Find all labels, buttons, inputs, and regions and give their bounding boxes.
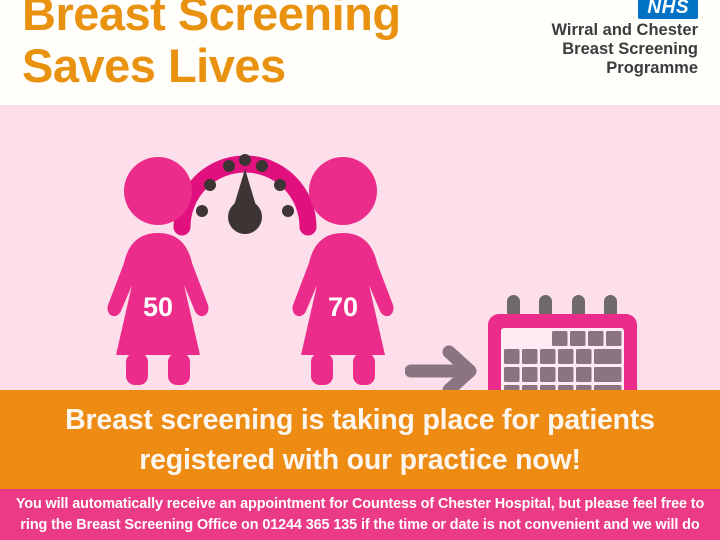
person-figure-right: 70 xyxy=(283,155,403,385)
pink-banner-text: You will automatically receive an appoin… xyxy=(13,494,707,536)
pink-info-banner: You will automatically receive an appoin… xyxy=(0,489,720,540)
person-left-age-label: 50 xyxy=(98,294,218,321)
poster-header: Breast Screening Saves Lives NHS Wirral … xyxy=(0,0,720,105)
nhs-branding: NHS Wirral and Chester Breast Screening … xyxy=(478,0,698,78)
person-right-age-label: 70 xyxy=(283,294,403,321)
orange-announcement-banner: Breast screening is taking place for pat… xyxy=(0,390,720,489)
nhs-programme-name: Wirral and Chester Breast Screening Prog… xyxy=(478,21,698,78)
page-title: Breast Screening Saves Lives xyxy=(22,0,401,92)
person-figure-left: 50 xyxy=(98,155,218,385)
poster-canvas: Breast Screening Saves Lives NHS Wirral … xyxy=(0,0,720,540)
illustration-panel: 50 70 xyxy=(0,105,720,390)
nhs-logo: NHS xyxy=(638,0,698,19)
orange-banner-text: Breast screening is taking place for pat… xyxy=(65,400,655,480)
